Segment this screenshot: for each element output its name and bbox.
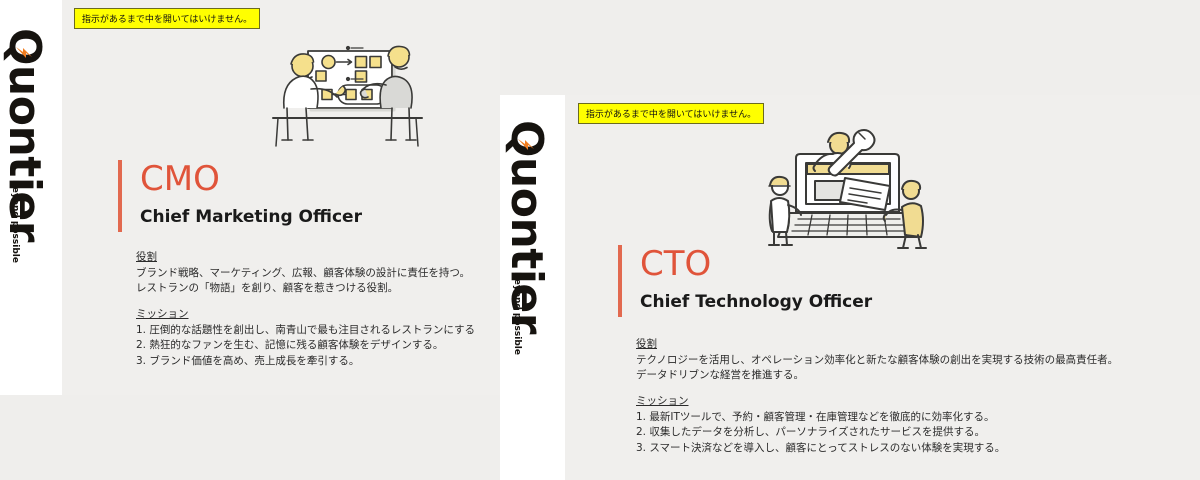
mission-heading-cto: ミッション — [636, 394, 1118, 410]
role-abbr-cmo: CMO — [140, 162, 362, 196]
role-line: ブランド戦略、マーケティング、広報、顧客体験の設計に責任を持つ。 — [136, 266, 475, 282]
role-line: テクノロジーを活用し、オペレーション効率化と新たな顧客体験の創出を実現する技術の… — [636, 353, 1118, 369]
role-line: データドリブンな経営を推進する。 — [636, 368, 1118, 384]
role-full-title-cmo: Chief Marketing Officer — [140, 208, 362, 227]
card-content-cto: 役割 テクノロジーを活用し、オペレーション効率化と新たな顧客体験の創出を実現する… — [636, 337, 1118, 456]
brand-logo-cto: Quontier Beyond possible — [500, 95, 565, 480]
role-heading-cmo: 役割 — [136, 250, 475, 266]
whiteboard-workshop-illustration — [263, 33, 428, 155]
mission-line: 2. 熱狂的なファンを生む、記憶に残る顧客体験をデザインする。 — [136, 338, 475, 354]
accent-bar-cmo — [118, 160, 122, 232]
mission-line: 3. ブランド価値を高め、売上成長を牽引する。 — [136, 354, 475, 370]
role-line: レストランの「物語」を創り、顧客を惹きつける役割。 — [136, 281, 475, 297]
warning-label-cto: 指示があるまで中を開いてはいけません。 — [578, 103, 764, 124]
brand-name: Quontier — [504, 120, 548, 334]
role-heading-cto: 役割 — [636, 337, 1118, 353]
role-full-title-cto: Chief Technology Officer — [640, 293, 872, 312]
mission-line: 3. スマート決済などを導入し、顧客にとってストレスのない体験を実現する。 — [636, 441, 1118, 457]
warning-label-cmo: 指示があるまで中を開いてはいけません。 — [74, 8, 260, 29]
brand-logo-cmo: Quontier Beyond possible — [0, 0, 62, 395]
title-block-cmo: CMO Chief Marketing Officer — [118, 160, 362, 232]
card-content-cmo: 役割 ブランド戦略、マーケティング、広報、顧客体験の設計に責任を持つ。 レストラ… — [136, 250, 475, 369]
slide-card-cto[interactable]: Quontier Beyond possible 指示があるまで中を開いてはいけ… — [500, 95, 1200, 480]
mission-line: 1. 最新ITツールで、予約・顧客管理・在庫管理などを徹底的に効率化する。 — [636, 410, 1118, 426]
role-abbr-cto: CTO — [640, 247, 872, 281]
accent-bar-cto — [618, 245, 622, 317]
brand-name: Quontier — [2, 28, 46, 242]
slide-card-cmo[interactable]: Quontier Beyond possible 指示があるまで中を開いてはいけ… — [0, 0, 500, 395]
title-block-cto: CTO Chief Technology Officer — [618, 245, 872, 317]
mission-heading-cmo: ミッション — [136, 307, 475, 323]
mission-line: 2. 収集したデータを分析し、パーソナライズされたサービスを提供する。 — [636, 425, 1118, 441]
laptop-maintenance-illustration — [752, 117, 932, 252]
mission-line: 1. 圧倒的な話題性を創出し、南青山で最も注目されるレストランにする — [136, 323, 475, 339]
